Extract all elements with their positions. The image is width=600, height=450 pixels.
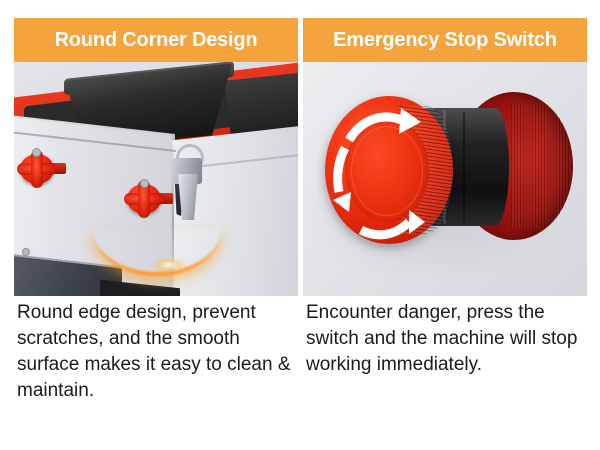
panel-header-title: Emergency Stop Switch [333,29,557,52]
panel-header-round-corner-design: Round Corner Design [14,18,298,62]
panel-caption-emergency-stop-switch: Encounter danger, press the switch and t… [306,300,587,378]
product-photo-emergency-stop-switch [303,62,587,296]
panel-header-emergency-stop-switch: Emergency Stop Switch [303,18,587,62]
product-photo-round-corner-design [14,62,298,296]
estop-button-face-ring [351,126,423,216]
panel-caption-round-corner-design: Round edge design, prevent scratches, an… [17,300,298,404]
machine-red-knob-left [20,154,54,184]
product-feature-banner: Round Corner Design [0,0,600,450]
feature-panel-emergency-stop-switch: Emergency Stop Switch [303,0,587,450]
estop-rear-collar-ribs [511,104,571,228]
panel-header-title: Round Corner Design [55,29,258,52]
estop-barrel-groove [463,112,465,222]
machine-knob-bolt-right [140,179,149,188]
rounded-edge-highlight-core [152,258,186,272]
feature-panel-round-corner-design: Round Corner Design [14,0,298,450]
machine-red-knob-right [127,184,161,214]
machine-knob-bolt-left [32,148,41,157]
